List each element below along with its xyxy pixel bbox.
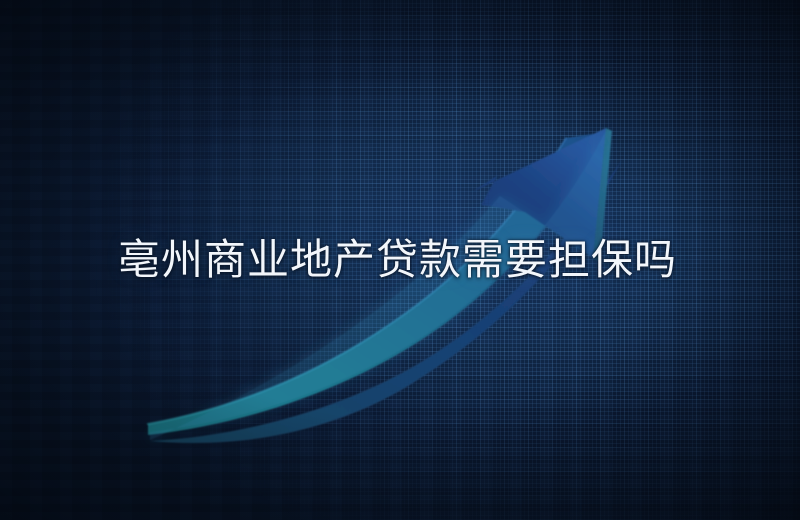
background-vignette [0, 0, 800, 520]
banner-hero: 亳州商业地产贷款需要担保吗 [0, 0, 800, 520]
